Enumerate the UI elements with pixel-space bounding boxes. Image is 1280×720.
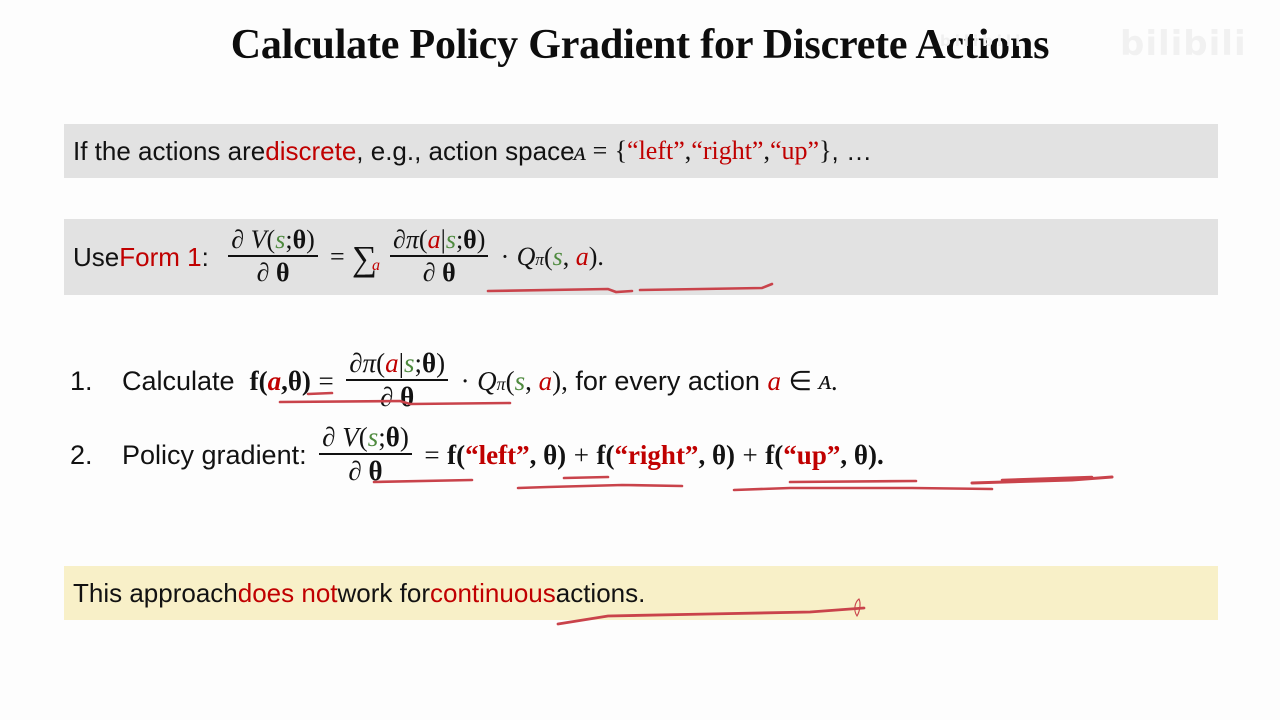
brace-open: { xyxy=(615,136,627,166)
ellipsis: , … xyxy=(832,136,872,167)
summation-index: a xyxy=(372,257,380,275)
equals-sign: = xyxy=(593,136,608,166)
fraction-numerator: ∂π(a|s;θ) xyxy=(346,348,448,378)
q-function-subscript-step1: π xyxy=(497,374,506,395)
theta-right: θ xyxy=(712,440,726,471)
q-function-args: (s, a). xyxy=(544,242,604,272)
note-keyword-does-not: does not xyxy=(238,578,338,609)
symbol-action-space-step1: ᴀ xyxy=(820,365,831,397)
step-1-tail: for every action xyxy=(575,366,760,397)
fraction-numerator: ∂ V(s;θ) xyxy=(319,422,412,452)
label-use: Use xyxy=(73,242,119,273)
step-2-lead: Policy gradient: xyxy=(122,440,307,471)
tail-var-a: a xyxy=(767,366,781,397)
step-1-lead: Calculate xyxy=(122,366,235,397)
fraction-denominator: ∂ θ xyxy=(254,258,293,287)
band-form-text: Use Form 1: ∂ V(s;θ) ∂ θ = ∑a ∂π(a|s;θ) xyxy=(64,226,604,288)
action-up: “up” xyxy=(770,136,819,166)
fraction-dpi-dtheta-step1: ∂π(a|s;θ) ∂ θ xyxy=(346,348,448,412)
multiplication-dot: · xyxy=(501,242,510,272)
q-function-subscript: π xyxy=(535,250,544,270)
slide-canvas: Calculate Policy Gradient for Discrete A… xyxy=(0,0,1280,720)
brace-close: } xyxy=(819,136,831,166)
text-action-space: , e.g., action space xyxy=(356,136,574,167)
arg-separator: , xyxy=(281,366,288,397)
keyword-discrete: discrete xyxy=(265,136,356,167)
fraction-denominator: ∂ θ xyxy=(377,382,417,412)
note-text-1: This approach xyxy=(73,578,238,609)
plus-sign-1: + xyxy=(574,440,589,471)
function-f-right: f xyxy=(596,440,605,471)
q-function-symbol-step1: Q xyxy=(477,366,497,397)
paren-open: ( xyxy=(259,366,268,397)
theta-left: θ xyxy=(543,440,557,471)
fraction-dv-dtheta-step2: ∂ V(s;θ) ∂ θ xyxy=(319,422,412,486)
fraction-bar xyxy=(390,255,488,257)
equals-sign-step2: = xyxy=(424,440,439,471)
label-form-1: Form 1 xyxy=(119,242,201,273)
paren-close: ) xyxy=(302,366,311,397)
theta-up: θ xyxy=(854,440,868,471)
note-text-3: actions. xyxy=(556,578,646,609)
period-step2: . xyxy=(877,440,884,471)
arg-left: “left” xyxy=(465,440,529,471)
var-s: s xyxy=(275,225,285,254)
arg-theta: θ xyxy=(288,366,302,397)
band-note-continuous: This approach does not work for continuo… xyxy=(64,566,1218,620)
q-function-args-step1: (s, a), xyxy=(506,366,568,397)
note-keyword-continuous: continuous xyxy=(430,578,556,609)
list-number-1: 1. xyxy=(70,366,122,397)
label-colon: : xyxy=(202,242,209,273)
fraction-numerator: ∂π(a|s;θ) xyxy=(390,225,488,254)
function-f: f xyxy=(250,366,259,397)
text-if-actions-are: If the actions are xyxy=(73,136,265,167)
equals-sign-form: = xyxy=(330,242,345,272)
band-note-text: This approach does not work for continuo… xyxy=(64,578,645,609)
fraction-denominator: ∂ θ xyxy=(345,456,385,486)
note-text-2: work for xyxy=(338,578,430,609)
element-of-symbol: ∈ xyxy=(788,366,812,397)
multiplication-dot-step1: · xyxy=(461,366,470,397)
function-f-up: f xyxy=(765,440,774,471)
function-f-left: f xyxy=(447,440,456,471)
fraction-denominator: ∂ θ xyxy=(420,258,459,287)
fraction-numerator: ∂ V(s;θ) xyxy=(228,225,318,254)
q-function-symbol: Q xyxy=(517,242,536,272)
symbol-action-space: ᴀ xyxy=(575,136,586,167)
page-title: Calculate Policy Gradient for Discrete A… xyxy=(0,21,1280,69)
band-discrete-actions: If the actions are discrete, e.g., actio… xyxy=(64,124,1218,178)
period-step1: . xyxy=(831,366,838,397)
band-discrete-text: If the actions are discrete, e.g., actio… xyxy=(64,136,872,167)
fraction-bar xyxy=(319,453,412,455)
fraction-bar xyxy=(228,255,318,257)
arg-a: a xyxy=(268,366,282,397)
arg-right: “right” xyxy=(614,440,698,471)
arg-up: “up” xyxy=(783,440,840,471)
list-item-step-2: 2. Policy gradient: ∂ V(s;θ) ∂ θ = f(“le… xyxy=(70,423,884,487)
band-form-one: Use Form 1: ∂ V(s;θ) ∂ θ = ∑a ∂π(a|s;θ) xyxy=(64,219,1218,295)
fraction-bar xyxy=(346,379,448,381)
action-left: “left” xyxy=(627,136,685,166)
fraction-dpi-dtheta: ∂π(a|s;θ) ∂ θ xyxy=(390,225,488,287)
fraction-dv-dtheta: ∂ V(s;θ) ∂ θ xyxy=(228,225,318,287)
list-item-step-1: 1. Calculate f(a, θ) = ∂π(a|s;θ) ∂ θ · Q… xyxy=(70,349,838,413)
action-right: “right” xyxy=(691,136,763,166)
equals-sign-step1: = xyxy=(318,366,333,397)
plus-sign-2: + xyxy=(743,440,758,471)
list-number-2: 2. xyxy=(70,440,122,471)
